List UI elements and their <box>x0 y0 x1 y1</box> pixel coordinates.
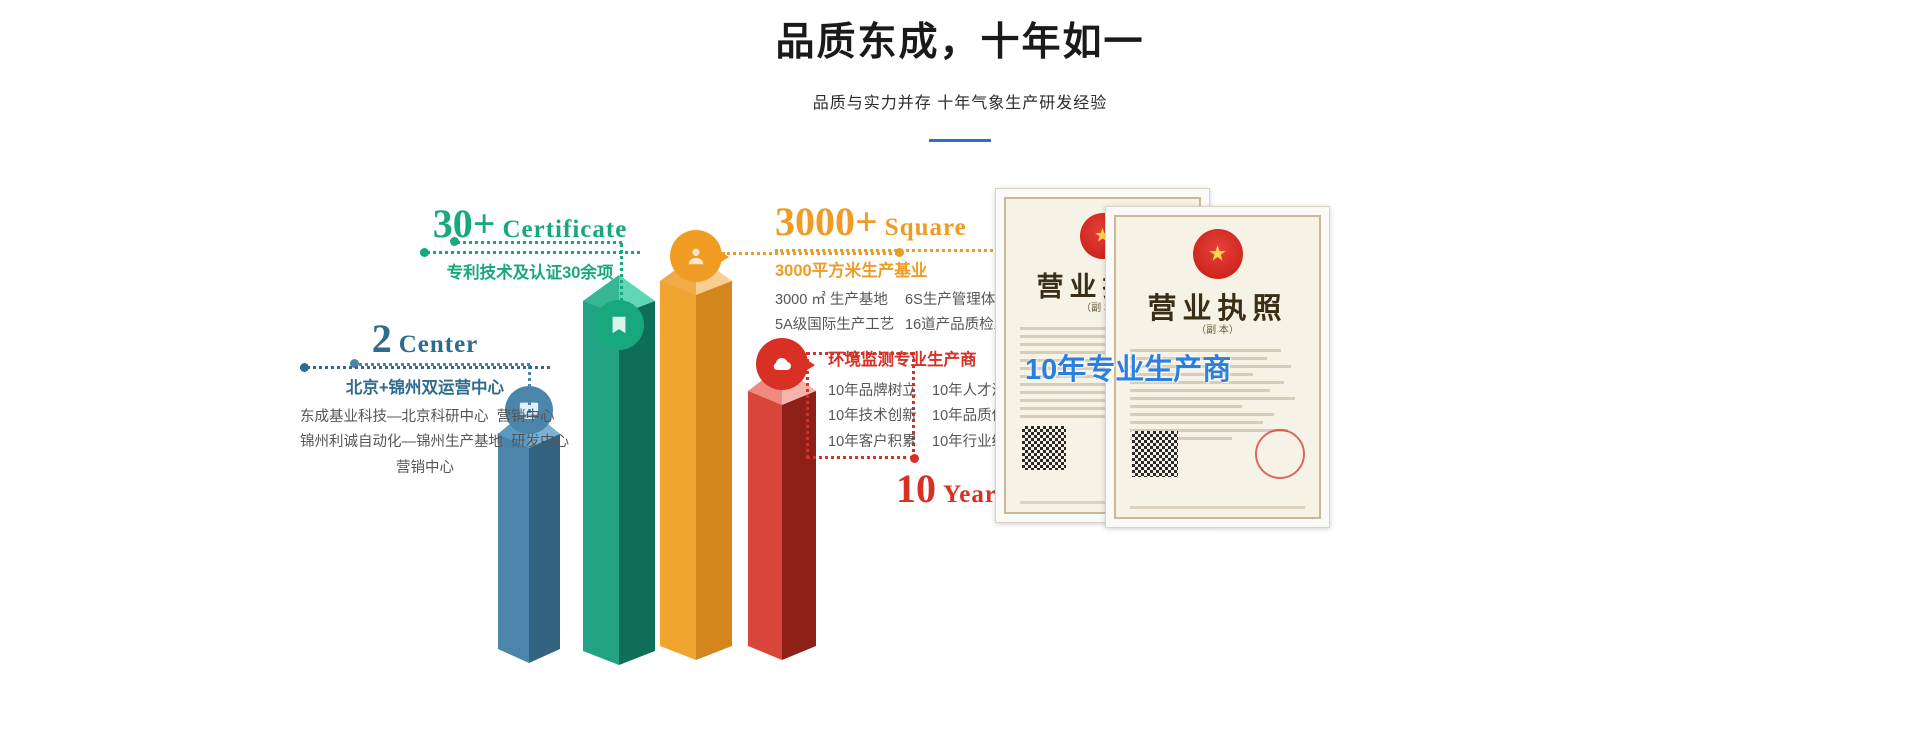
row-text: 研发中心 <box>511 430 569 455</box>
title-underline <box>929 139 991 142</box>
page-title: 品质东成，十年如一 <box>0 0 1920 67</box>
row-text: 营销中心 <box>396 456 454 481</box>
stat-year-number: 10 <box>896 466 936 511</box>
stat-center-word: Center <box>399 331 479 358</box>
row-text: 锦州利诚自动化—锦州生产基地 <box>300 430 503 455</box>
stat-certificate-number: 30+ <box>433 201 496 246</box>
certificates-group: ★ 营业执照 （副 本） ★ <box>995 188 1355 528</box>
stat-square-headline: 3000+Square <box>775 198 1010 245</box>
stat-center: 2Center 北京+锦州双运营中心 东成基业科技—北京科研中心 营销中心 锦州… <box>300 315 550 481</box>
cloud-icon <box>756 338 808 390</box>
bar-square <box>660 255 732 660</box>
bar-year-left-face <box>748 391 782 660</box>
page-header: 品质东成，十年如一 品质与实力并存 十年气象生产研发经验 <box>0 0 1920 142</box>
page-subtitle: 品质与实力并存 十年气象生产研发经验 <box>0 89 1920 113</box>
license-footer-line <box>1130 506 1305 509</box>
stat-certificate-headline: 30+Certificate <box>420 200 640 247</box>
stat-center-lead: 北京+锦州双运营中心 <box>300 374 550 398</box>
stat-certificate-lead: 专利技术及认证30余项 <box>420 259 640 283</box>
national-emblem-icon: ★ <box>1193 229 1243 279</box>
stat-square-word: Square <box>885 214 967 241</box>
certificates-overlay-text: 10年专业生产商 <box>1025 346 1231 388</box>
license-qr-code <box>1132 431 1178 477</box>
bar-certificate-left-face <box>583 301 619 665</box>
stat-center-divider <box>300 366 550 369</box>
license-seal <box>1255 429 1305 479</box>
stat-square-number: 3000+ <box>775 199 878 244</box>
license-qr-code <box>1022 426 1066 470</box>
stat-certificate-word: Certificate <box>502 216 627 243</box>
stat-certificate: 30+Certificate 专利技术及认证30余项 <box>420 200 640 283</box>
stat-center-rows: 东成基业科技—北京科研中心 营销中心 锦州利诚自动化—锦州生产基地 研发中心 营… <box>300 405 550 481</box>
stat-square: 3000+Square 3000平方米生产基业 3000 ㎡ 生产基地6S生产管… <box>775 198 1010 339</box>
bar-square-right-face <box>696 281 732 660</box>
stat-center-number: 2 <box>372 316 392 361</box>
stat-center-headline: 2Center <box>300 315 550 362</box>
row-text: 10年客户积累 <box>828 430 932 455</box>
stat-square-lead: 3000平方米生产基业 <box>775 257 1010 281</box>
stat-square-divider <box>775 249 1010 252</box>
row-text: 10年技术创新 <box>828 404 932 429</box>
row-text: 3000 ㎡ 生产基地 <box>775 288 905 313</box>
bar-certificate-right-face <box>619 301 655 665</box>
stat-year-word: Year <box>943 481 997 508</box>
bar-square-left-face <box>660 281 696 660</box>
row-text: 10年品牌树立 <box>828 379 932 404</box>
row-text: 营销中心 <box>497 405 555 430</box>
page-root: 品质东成，十年如一 品质与实力并存 十年气象生产研发经验 <box>0 0 1920 747</box>
stat-certificate-divider <box>420 251 640 254</box>
license-subtitle: （副 本） <box>1116 321 1319 336</box>
row-text: 东成基业科技—北京科研中心 <box>300 405 489 430</box>
user-icon <box>670 230 722 282</box>
